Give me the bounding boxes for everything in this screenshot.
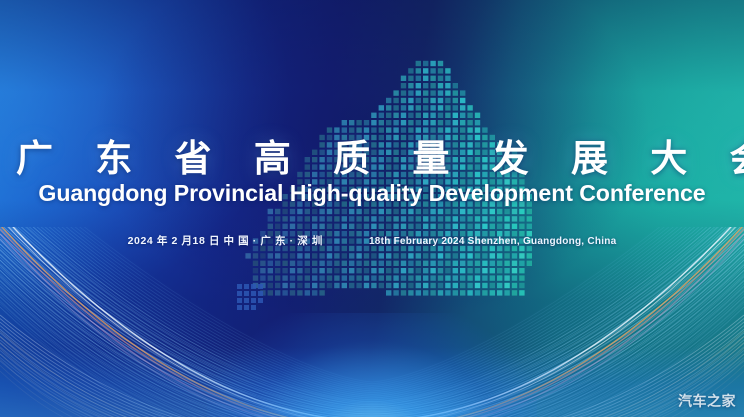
conference-poster: 广 东 省 高 质 量 发 展 大 会 Guangdong Provincial…: [0, 0, 744, 417]
watermark-autohome: 汽车之家: [678, 391, 736, 411]
bottom-wave-lines-icon: [0, 227, 744, 417]
